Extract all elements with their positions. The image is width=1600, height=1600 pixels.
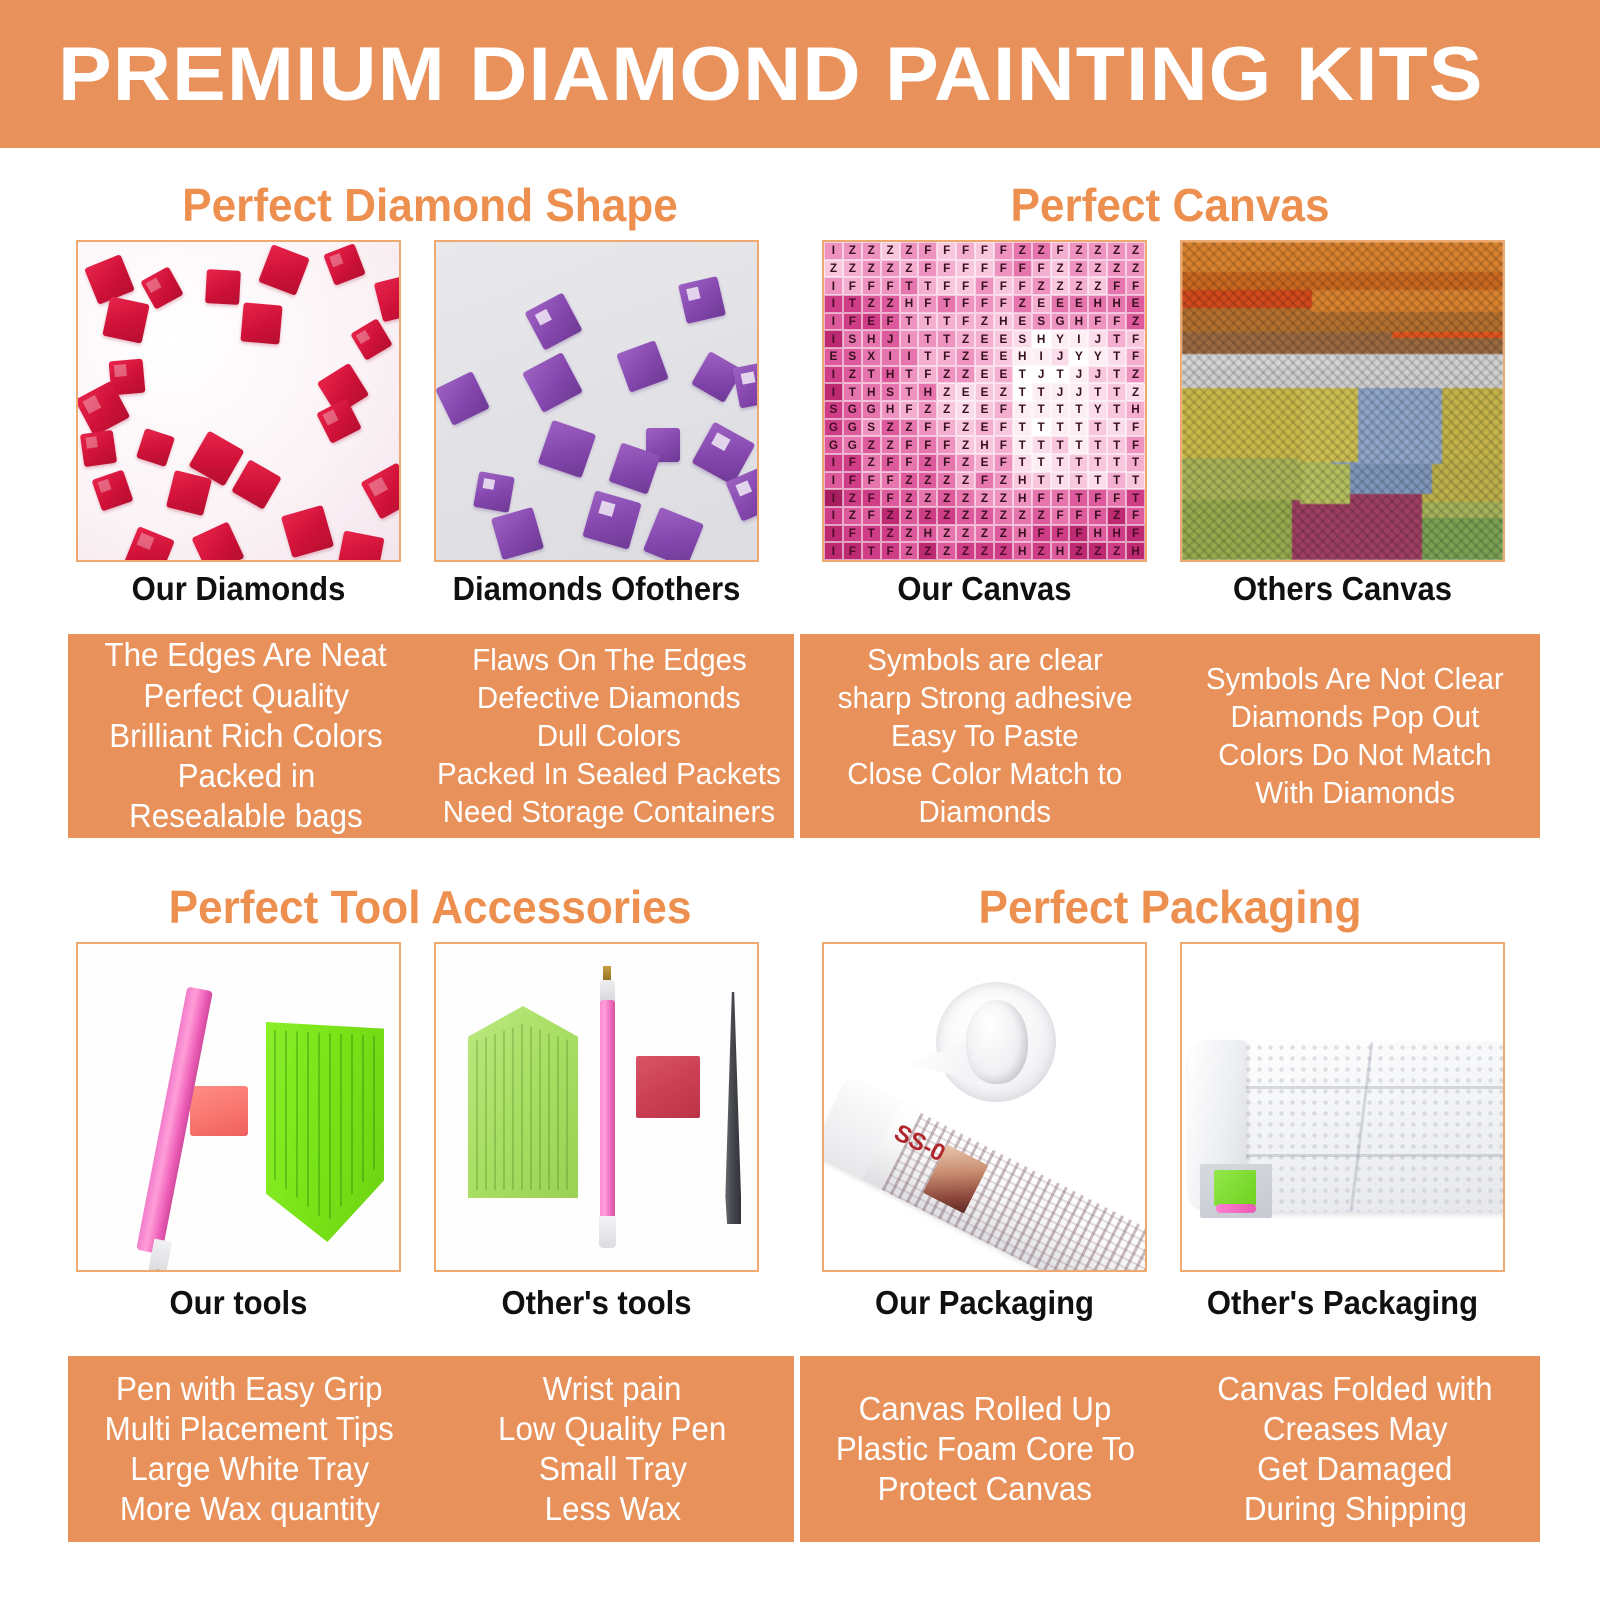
canvas-symbol-cell: Z (824, 260, 843, 278)
canvas-symbol-cell: Z (900, 489, 919, 507)
caption-others-tools: Other's tools (444, 1284, 750, 1322)
canvas-symbol-cell: F (994, 454, 1013, 472)
diamond-bead (473, 471, 515, 513)
canvas-symbol-cell: F (881, 454, 900, 472)
canvas-symbol-cell: J (1032, 366, 1051, 384)
canvas-symbol-cell: E (994, 366, 1013, 384)
panel-line: Easy To Paste (891, 717, 1079, 755)
canvas-symbol-cell: Z (843, 507, 862, 525)
canvas-symbol-cell: H (918, 383, 937, 401)
panel-line: Dull Colors (537, 717, 681, 755)
panel-line: Flaws On The Edges (472, 641, 746, 679)
canvas-symbol-cell: I (824, 525, 843, 543)
canvas-symbol-cell: Z (1107, 242, 1126, 260)
panel-line: During Shipping (1243, 1489, 1466, 1529)
canvas-symbol-cell: Z (1088, 260, 1107, 278)
canvas-symbol-cell: T (1088, 419, 1107, 437)
canvas-symbol-cell: Y (1051, 330, 1070, 348)
canvas-symbol-cell: Z (994, 489, 1013, 507)
wax-square (190, 1086, 248, 1136)
canvas-symbol-cell: Z (1032, 507, 1051, 525)
canvas-symbol-cell: F (975, 277, 994, 295)
canvas-symbol-cell: I (824, 454, 843, 472)
canvas-symbol-cell: H (1107, 295, 1126, 313)
canvas-symbol-cell: Z (843, 489, 862, 507)
canvas-symbol-cell: E (975, 348, 994, 366)
pen-end-cap (599, 1216, 616, 1248)
canvas-symbol-cell: Z (918, 489, 937, 507)
canvas-symbol-cell: E (1051, 295, 1070, 313)
canvas-weave-texture (1182, 242, 1503, 560)
panel-line: Packed In Sealed Packets (437, 755, 781, 793)
canvas-symbol-cell: F (1032, 260, 1051, 278)
canvas-symbol-cell: Z (881, 295, 900, 313)
canvas-symbol-cell: T (937, 313, 956, 331)
section-title-tool-accessories: Perfect Tool Accessories (75, 880, 785, 934)
photo-others-diamonds (434, 240, 759, 562)
panel-packaging: Canvas Rolled UpPlastic Foam Core ToProt… (800, 1356, 1540, 1542)
canvas-symbol-cell: H (881, 401, 900, 419)
canvas-symbol-cell: S (862, 419, 881, 437)
panel-line: Plastic Foam Core To (835, 1429, 1134, 1469)
canvas-symbol-cell: Z (881, 436, 900, 454)
canvas-symbol-cell: E (956, 383, 975, 401)
canvas-symbol-cell: F (1088, 489, 1107, 507)
panel-line: More Wax quantity (119, 1489, 379, 1529)
canvas-symbol-cell: F (975, 295, 994, 313)
panel-line: Wrist pain (543, 1369, 682, 1409)
canvas-symbol-cell: E (1013, 313, 1032, 331)
canvas-symbol-cell: T (1013, 419, 1032, 437)
canvas-symbol-cell: T (918, 313, 937, 331)
canvas-symbol-cell: F (956, 313, 975, 331)
panel-line: Pen with Easy Grip (116, 1369, 383, 1409)
canvas-symbol-cell: F (994, 419, 1013, 437)
bead-facet (368, 477, 388, 497)
panel-column-others: Symbols Are Not ClearDiamonds Pop OutCol… (1170, 634, 1540, 838)
canvas-symbol-cell: T (1032, 436, 1051, 454)
canvas-symbol-cell: E (824, 348, 843, 366)
panel-line: Close Color Match to (848, 755, 1123, 793)
canvas-symbol-cell: T (900, 383, 919, 401)
canvas-symbol-cell: Z (994, 525, 1013, 543)
canvas-symbol-cell: T (862, 542, 881, 560)
canvas-symbol-cell: Z (1126, 313, 1145, 331)
canvas-symbol-cell: I (824, 489, 843, 507)
canvas-symbol-cell: Z (1051, 260, 1070, 278)
canvas-symbol-cell: F (994, 436, 1013, 454)
panel-line: Resealable bags (129, 796, 363, 836)
caption-our-diamonds: Our Diamonds (86, 570, 392, 608)
canvas-symbol-cell: Y (1069, 348, 1088, 366)
canvas-symbol-cell: S (824, 401, 843, 419)
canvas-symbol-cell: F (900, 454, 919, 472)
photo-our-canvas: IZZZZFFFFFZZFZZZZZZZZZFFFFFFFZZZZZIFFFTT… (822, 240, 1147, 562)
canvas-symbol-cell: S (881, 383, 900, 401)
canvas-symbol-cell: Z (956, 489, 975, 507)
canvas-symbol-cell: S (1032, 313, 1051, 331)
canvas-symbol-cell: Z (956, 348, 975, 366)
canvas-symbol-cell: S (843, 348, 862, 366)
canvas-symbol-cell: T (1051, 436, 1070, 454)
canvas-symbol-cell: H (1032, 330, 1051, 348)
panel-line: With Diamonds (1255, 774, 1455, 812)
canvas-symbol-cell: F (862, 472, 881, 490)
canvas-symbol-cell: Z (1069, 242, 1088, 260)
panel-tool-accessories: Pen with Easy GripMulti Placement TipsLa… (68, 1356, 794, 1542)
canvas-symbol-cell: T (1107, 436, 1126, 454)
bead-facet (735, 480, 752, 496)
canvas-symbol-cell: H (1013, 472, 1032, 490)
canvas-symbol-cell: T (1069, 454, 1088, 472)
canvas-symbol-cell: G (843, 401, 862, 419)
panel-line: Brilliant Rich Colors (109, 716, 383, 756)
panel-line: Colors Do Not Match (1218, 736, 1491, 774)
canvas-symbol-cell: H (1088, 525, 1107, 543)
bead-facet (741, 371, 755, 385)
canvas-symbol-cell: T (1069, 401, 1088, 419)
canvas-symbol-cell: Z (843, 242, 862, 260)
bead-facet (322, 409, 338, 425)
canvas-symbol-cell: Z (862, 436, 881, 454)
canvas-symbol-cell: T (918, 348, 937, 366)
canvas-symbol-cell: F (1088, 313, 1107, 331)
canvas-symbol-cell: T (1051, 401, 1070, 419)
canvas-symbol-cell: T (1107, 348, 1126, 366)
contents-peeking-out (1200, 1164, 1272, 1218)
canvas-symbol-cell: F (862, 489, 881, 507)
canvas-symbol-cell: T (843, 383, 862, 401)
canvas-symbol-cell: T (843, 295, 862, 313)
panel-line: Multi Placement Tips (105, 1409, 394, 1449)
canvas-symbol-cell: T (918, 277, 937, 295)
canvas-symbol-cell: Z (843, 366, 862, 384)
canvas-symbol-cell: Z (1088, 542, 1107, 560)
caption-others-canvas: Others Canvas (1190, 570, 1496, 608)
canvas-symbol-cell: T (1051, 454, 1070, 472)
canvas-symbol-cell: F (862, 507, 881, 525)
canvas-symbol-cell: Z (918, 454, 937, 472)
canvas-symbol-cell: F (994, 277, 1013, 295)
canvas-symbol-cell: Z (956, 525, 975, 543)
canvas-symbol-cell: F (1107, 313, 1126, 331)
canvas-symbol-cell: Z (956, 366, 975, 384)
canvas-symbol-cell: J (1051, 383, 1070, 401)
canvas-symbol-cell: F (918, 295, 937, 313)
canvas-symbol-cell: I (900, 348, 919, 366)
canvas-symbol-cell: H (1013, 348, 1032, 366)
canvas-symbol-cell: H (881, 366, 900, 384)
green-tray-inside (1214, 1170, 1256, 1206)
canvas-symbol-cell: H (994, 313, 1013, 331)
canvas-symbol-cell: H (1069, 313, 1088, 331)
canvas-symbol-cell: Z (881, 260, 900, 278)
canvas-symbol-cell: T (1051, 472, 1070, 490)
diamond-bead (205, 269, 241, 305)
canvas-symbol-cell: Z (956, 472, 975, 490)
section-title-packaging: Perfect Packaging (815, 880, 1525, 934)
canvas-symbol-cell: T (1107, 472, 1126, 490)
panel-line: Symbols Are Not Clear (1206, 660, 1504, 698)
canvas-symbol-cell: F (937, 436, 956, 454)
panel-column-others: Wrist painLow Quality PenSmall TrayLess … (431, 1356, 794, 1542)
panel-column-ours: The Edges Are NeatPerfect QualityBrillia… (68, 634, 424, 838)
canvas-symbol-cell: E (975, 401, 994, 419)
caption-our-packaging: Our Packaging (832, 1284, 1138, 1322)
bead-facet (146, 277, 161, 292)
canvas-symbol-cell: F (918, 242, 937, 260)
canvas-symbol-cell: Z (918, 472, 937, 490)
bead-facet (97, 479, 112, 493)
bead-facet (598, 500, 616, 517)
canvas-symbol-cell: T (1126, 489, 1145, 507)
canvas-symbol-cell: H (1051, 542, 1070, 560)
canvas-symbol-cell: T (862, 525, 881, 543)
canvas-symbol-cell: H (1088, 295, 1107, 313)
canvas-symbol-cell: F (1051, 489, 1070, 507)
canvas-symbol-cell: E (975, 383, 994, 401)
canvas-symbol-cell: E (975, 419, 994, 437)
panel-line: Low Quality Pen (498, 1409, 726, 1449)
canvas-symbol-cell: F (881, 542, 900, 560)
symbol-grid: IZZZZFFFFFZZFZZZZZZZZZFFFFFFFZZZZZIFFFTT… (824, 242, 1145, 560)
canvas-symbol-cell: E (862, 313, 881, 331)
canvas-symbol-cell: T (900, 366, 919, 384)
canvas-symbol-cell: Z (900, 260, 919, 278)
canvas-symbol-cell: T (1013, 383, 1032, 401)
canvas-symbol-cell: Z (881, 525, 900, 543)
canvas-symbol-cell: H (1013, 525, 1032, 543)
canvas-symbol-cell: H (1107, 525, 1126, 543)
canvas-symbol-cell: H (918, 525, 937, 543)
canvas-symbol-cell: J (1088, 366, 1107, 384)
canvas-symbol-cell: Z (937, 472, 956, 490)
canvas-symbol-cell: Z (918, 507, 937, 525)
canvas-symbol-cell: F (975, 260, 994, 278)
canvas-symbol-cell: Z (862, 295, 881, 313)
canvas-symbol-cell: S (1013, 330, 1032, 348)
canvas-symbol-cell: F (918, 419, 937, 437)
canvas-symbol-cell: F (1126, 330, 1145, 348)
caption-others-diamonds: Diamonds Ofothers (444, 570, 750, 608)
panel-line: sharp Strong adhesive (838, 679, 1133, 717)
canvas-symbol-cell: F (956, 277, 975, 295)
canvas-symbol-cell: Z (937, 401, 956, 419)
canvas-symbol-cell: Z (1013, 242, 1032, 260)
canvas-symbol-cell: F (1126, 419, 1145, 437)
header-banner: PREMIUM DIAMOND PAINTING KITS (0, 0, 1600, 148)
panel-line: Diamonds (919, 793, 1052, 831)
canvas-symbol-cell: T (900, 313, 919, 331)
page-title: PREMIUM DIAMOND PAINTING KITS (58, 31, 1484, 118)
canvas-symbol-cell: Z (1107, 507, 1126, 525)
canvas-symbol-cell: T (1013, 436, 1032, 454)
panel-line: Symbols are clear (867, 641, 1103, 679)
canvas-symbol-cell: T (1032, 472, 1051, 490)
canvas-symbol-cell: F (1126, 507, 1145, 525)
panel-line: Large White Tray (130, 1449, 369, 1489)
canvas-symbol-cell: Z (937, 507, 956, 525)
canvas-symbol-cell: E (975, 366, 994, 384)
canvas-symbol-cell: F (1032, 489, 1051, 507)
bead-facet (686, 287, 700, 301)
canvas-symbol-cell: G (843, 419, 862, 437)
canvas-symbol-cell: Z (1126, 242, 1145, 260)
canvas-symbol-cell: T (1069, 489, 1088, 507)
pink-pen-inside (1216, 1204, 1256, 1213)
canvas-symbol-cell: F (1032, 525, 1051, 543)
diamond-bead (102, 296, 149, 343)
canvas-symbol-cell: Z (937, 525, 956, 543)
canvas-symbol-cell: I (824, 330, 843, 348)
canvas-symbol-cell: E (1069, 295, 1088, 313)
canvas-symbol-cell: F (994, 242, 1013, 260)
diamond-bead (240, 302, 282, 344)
canvas-symbol-cell: I (824, 295, 843, 313)
canvas-symbol-cell: F (881, 489, 900, 507)
canvas-symbol-cell: F (937, 454, 956, 472)
canvas-symbol-cell: F (843, 472, 862, 490)
canvas-symbol-cell: Z (956, 436, 975, 454)
infographic-page: PREMIUM DIAMOND PAINTING KITS Perfect Di… (0, 0, 1600, 1600)
canvas-symbol-cell: Z (975, 489, 994, 507)
canvas-symbol-cell: Z (1088, 242, 1107, 260)
canvas-symbol-cell: T (1032, 419, 1051, 437)
canvas-symbol-cell: H (1126, 401, 1145, 419)
canvas-symbol-cell: Z (956, 401, 975, 419)
canvas-symbol-cell: F (1088, 507, 1107, 525)
canvas-symbol-cell: Z (1069, 260, 1088, 278)
canvas-symbol-cell: Z (1088, 277, 1107, 295)
photo-our-diamonds (76, 240, 401, 562)
canvas-symbol-cell: Z (975, 313, 994, 331)
canvas-symbol-cell: Z (1013, 507, 1032, 525)
canvas-symbol-cell: Z (881, 242, 900, 260)
canvas-symbol-cell: J (1051, 348, 1070, 366)
canvas-symbol-cell: T (937, 330, 956, 348)
canvas-symbol-cell: T (1126, 472, 1145, 490)
canvas-symbol-cell: F (994, 401, 1013, 419)
canvas-symbol-cell: I (881, 348, 900, 366)
caption-our-canvas: Our Canvas (832, 570, 1138, 608)
bead-facet (85, 436, 98, 449)
canvas-symbol-cell: J (1088, 330, 1107, 348)
canvas-symbol-cell: T (1107, 383, 1126, 401)
panel-column-ours: Symbols are clearsharp Strong adhesiveEa… (800, 634, 1170, 838)
bead-facet (114, 364, 127, 377)
canvas-symbol-cell: Z (862, 260, 881, 278)
canvas-symbol-cell: T (1013, 366, 1032, 384)
canvas-symbol-cell: J (1069, 366, 1088, 384)
canvas-symbol-cell: Z (956, 330, 975, 348)
canvas-symbol-cell: F (843, 542, 862, 560)
panel-column-others: Flaws On The EdgesDefective DiamondsDull… (424, 634, 794, 838)
canvas-symbol-cell: I (824, 313, 843, 331)
canvas-symbol-cell: F (937, 348, 956, 366)
canvas-symbol-cell: E (994, 330, 1013, 348)
canvas-symbol-cell: F (937, 242, 956, 260)
canvas-symbol-cell: Z (900, 525, 919, 543)
panel-line: Get Damaged (1257, 1449, 1452, 1489)
canvas-symbol-cell: T (862, 366, 881, 384)
canvas-symbol-cell: Z (975, 525, 994, 543)
canvas-symbol-cell: F (918, 436, 937, 454)
canvas-symbol-cell: Z (956, 419, 975, 437)
canvas-symbol-cell: T (1013, 401, 1032, 419)
bead-facet (356, 329, 371, 344)
canvas-symbol-cell: T (1107, 401, 1126, 419)
canvas-symbol-cell: F (1051, 242, 1070, 260)
canvas-symbol-cell: F (881, 277, 900, 295)
canvas-symbol-cell: F (881, 472, 900, 490)
canvas-symbol-cell: G (824, 436, 843, 454)
canvas-symbol-cell: T (1107, 330, 1126, 348)
canvas-symbol-cell: F (1126, 277, 1145, 295)
canvas-symbol-cell: S (843, 330, 862, 348)
canvas-symbol-cell: Z (881, 507, 900, 525)
canvas-symbol-cell: T (1088, 454, 1107, 472)
foam-core-plug (966, 1000, 1028, 1084)
canvas-symbol-cell: J (881, 330, 900, 348)
canvas-symbol-cell: F (900, 436, 919, 454)
panel-line: Packed in (177, 756, 315, 796)
canvas-symbol-cell: E (1126, 295, 1145, 313)
photo-our-packaging: SS-01 (822, 942, 1147, 1272)
canvas-symbol-cell: F (843, 277, 862, 295)
canvas-symbol-cell: H (862, 330, 881, 348)
canvas-symbol-cell: I (824, 366, 843, 384)
canvas-symbol-cell: F (918, 366, 937, 384)
canvas-symbol-cell: T (1032, 401, 1051, 419)
canvas-symbol-cell: T (1069, 436, 1088, 454)
canvas-symbol-cell: Z (937, 383, 956, 401)
photo-others-packaging (1180, 942, 1505, 1272)
panel-line: The Edges Are Neat (105, 635, 387, 675)
canvas-symbol-cell: Z (1051, 277, 1070, 295)
canvas-symbol-cell: Z (956, 454, 975, 472)
bead-facet (82, 395, 102, 414)
canvas-symbol-cell: I (824, 507, 843, 525)
canvas-symbol-cell: F (1107, 277, 1126, 295)
wax-square (636, 1056, 700, 1118)
canvas-symbol-cell: I (1069, 330, 1088, 348)
canvas-symbol-cell: T (1051, 366, 1070, 384)
canvas-symbol-cell: Z (937, 542, 956, 560)
bead-facet (329, 253, 344, 268)
canvas-symbol-cell: Z (956, 542, 975, 560)
canvas-symbol-cell: F (994, 260, 1013, 278)
canvas-symbol-cell: F (843, 313, 862, 331)
canvas-symbol-cell: H (1126, 542, 1145, 560)
canvas-symbol-cell: Z (1013, 295, 1032, 313)
canvas-symbol-cell: F (937, 277, 956, 295)
canvas-symbol-cell: Z (1032, 242, 1051, 260)
canvas-symbol-cell: X (862, 348, 881, 366)
canvas-symbol-cell: Z (900, 472, 919, 490)
canvas-symbol-cell: F (956, 260, 975, 278)
canvas-symbol-cell: H (975, 436, 994, 454)
photo-others-tools (434, 942, 759, 1272)
canvas-symbol-cell: F (881, 313, 900, 331)
panel-column-others: Canvas Folded withCreases MayGet Damaged… (1170, 1356, 1540, 1542)
canvas-symbol-cell: I (824, 242, 843, 260)
canvas-symbol-cell: H (1013, 542, 1032, 560)
canvas-symbol-cell: T (1107, 454, 1126, 472)
panel-column-ours: Pen with Easy GripMulti Placement TipsLa… (68, 1356, 431, 1542)
canvas-symbol-cell: I (824, 383, 843, 401)
canvas-symbol-cell: E (994, 348, 1013, 366)
panel-line: Diamonds Pop Out (1231, 698, 1480, 736)
